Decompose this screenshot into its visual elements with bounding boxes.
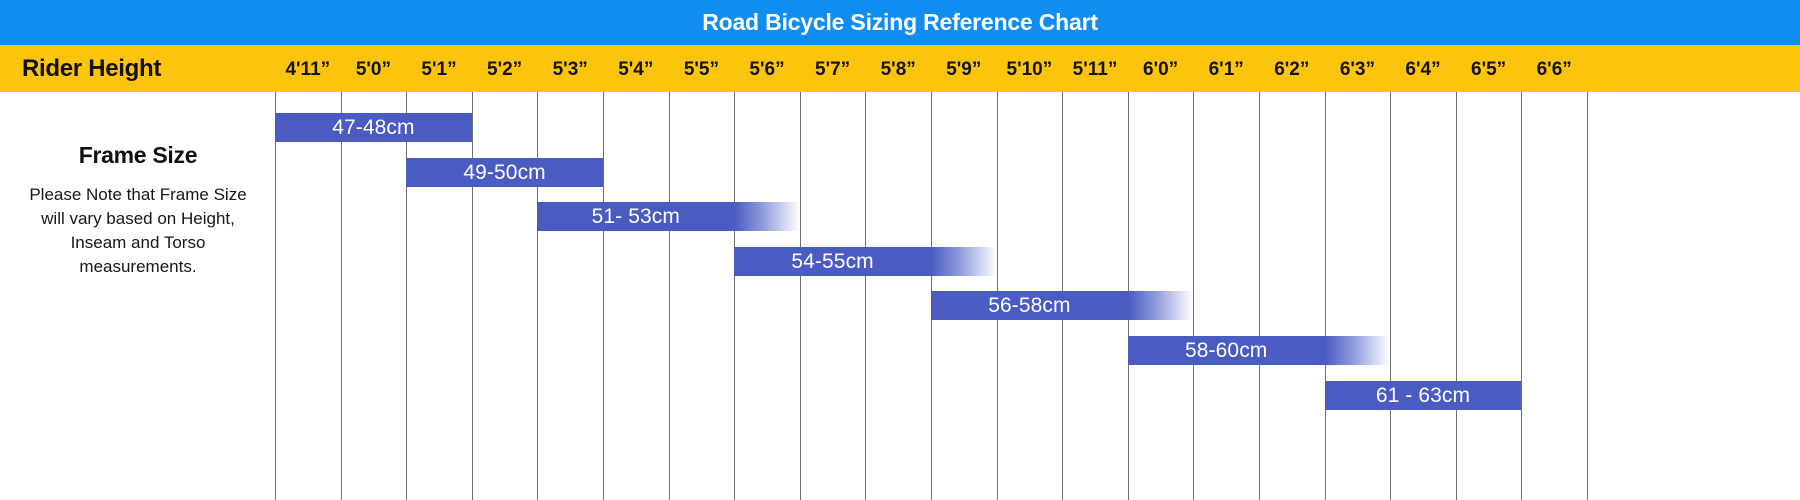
bar-label: 61 - 63cm	[1325, 381, 1522, 410]
axis-tick-label: 5'9”	[946, 45, 981, 92]
axis-tick-label: 5'8”	[881, 45, 916, 92]
bar-fade	[734, 202, 800, 231]
frame-size-note: Please Note that Frame Size will vary ba…	[8, 183, 268, 280]
axis-tick-label: 5'5”	[684, 45, 719, 92]
frame-size-bar: 58-60cm	[1128, 336, 1390, 365]
axis-tick-label: 5'1”	[421, 45, 456, 92]
gridline	[865, 92, 866, 500]
axis-tick-label: 5'11”	[1073, 45, 1118, 92]
gridline	[275, 92, 276, 500]
gridline	[603, 92, 604, 500]
axis-title-rider-height: Rider Height	[22, 45, 161, 92]
axis-tick-label: 5'4”	[618, 45, 653, 92]
axis-tick-label: 6'4”	[1405, 45, 1440, 92]
frame-size-bar: 54-55cm	[734, 247, 996, 276]
page-title: Road Bicycle Sizing Reference Chart	[0, 0, 1800, 45]
axis-tick-label: 4'11”	[285, 45, 330, 92]
gridline	[669, 92, 670, 500]
axis-tick-label: 5'6”	[749, 45, 784, 92]
frame-size-bar: 51- 53cm	[537, 202, 799, 231]
bar-fade	[1128, 291, 1194, 320]
axis-tick-label: 6'6”	[1537, 45, 1572, 92]
gridline	[472, 92, 473, 500]
gridline	[341, 92, 342, 500]
title-band: Road Bicycle Sizing Reference Chart	[0, 0, 1800, 45]
axis-tick-label: 6'3”	[1340, 45, 1375, 92]
gridline	[1390, 92, 1391, 500]
axis-tick-label: 5'0”	[356, 45, 391, 92]
bar-label: 49-50cm	[406, 158, 603, 187]
gridline	[1259, 92, 1260, 500]
gridline	[406, 92, 407, 500]
frame-size-bar: 47-48cm	[275, 113, 472, 142]
bar-fade	[1325, 336, 1391, 365]
axis-tick-label: 6'2”	[1274, 45, 1309, 92]
gridline	[1456, 92, 1457, 500]
axis-tick-label: 5'3”	[553, 45, 588, 92]
frame-size-bar: 49-50cm	[406, 158, 603, 187]
bar-label: 58-60cm	[1128, 336, 1325, 365]
axis-tick-label: 5'10”	[1007, 45, 1053, 92]
axis-tick-label: 6'0”	[1143, 45, 1178, 92]
gridline	[1325, 92, 1326, 500]
frame-size-bar: 61 - 63cm	[1325, 381, 1522, 410]
gridline	[537, 92, 538, 500]
bar-label: 56-58cm	[931, 291, 1128, 320]
axis-tick-label: 5'2”	[487, 45, 522, 92]
gridline	[1587, 92, 1588, 500]
frame-size-bar: 56-58cm	[931, 291, 1193, 320]
gridline	[1521, 92, 1522, 500]
axis-tick-label: 6'5”	[1471, 45, 1506, 92]
gridline	[1193, 92, 1194, 500]
axis-tick-label: 5'7”	[815, 45, 850, 92]
bar-label: 47-48cm	[275, 113, 472, 142]
bar-fade	[931, 247, 997, 276]
sizing-chart: Road Bicycle Sizing Reference Chart Ride…	[0, 0, 1800, 500]
plot-area: 47-48cm49-50cm51- 53cm54-55cm56-58cm58-6…	[0, 92, 1800, 500]
frame-size-heading: Frame Size	[8, 142, 268, 169]
bar-label: 51- 53cm	[537, 202, 734, 231]
gridline	[734, 92, 735, 500]
side-panel: Frame Size Please Note that Frame Size w…	[8, 92, 268, 280]
axis-tick-label: 6'1”	[1209, 45, 1244, 92]
bar-label: 54-55cm	[734, 247, 931, 276]
gridline	[800, 92, 801, 500]
